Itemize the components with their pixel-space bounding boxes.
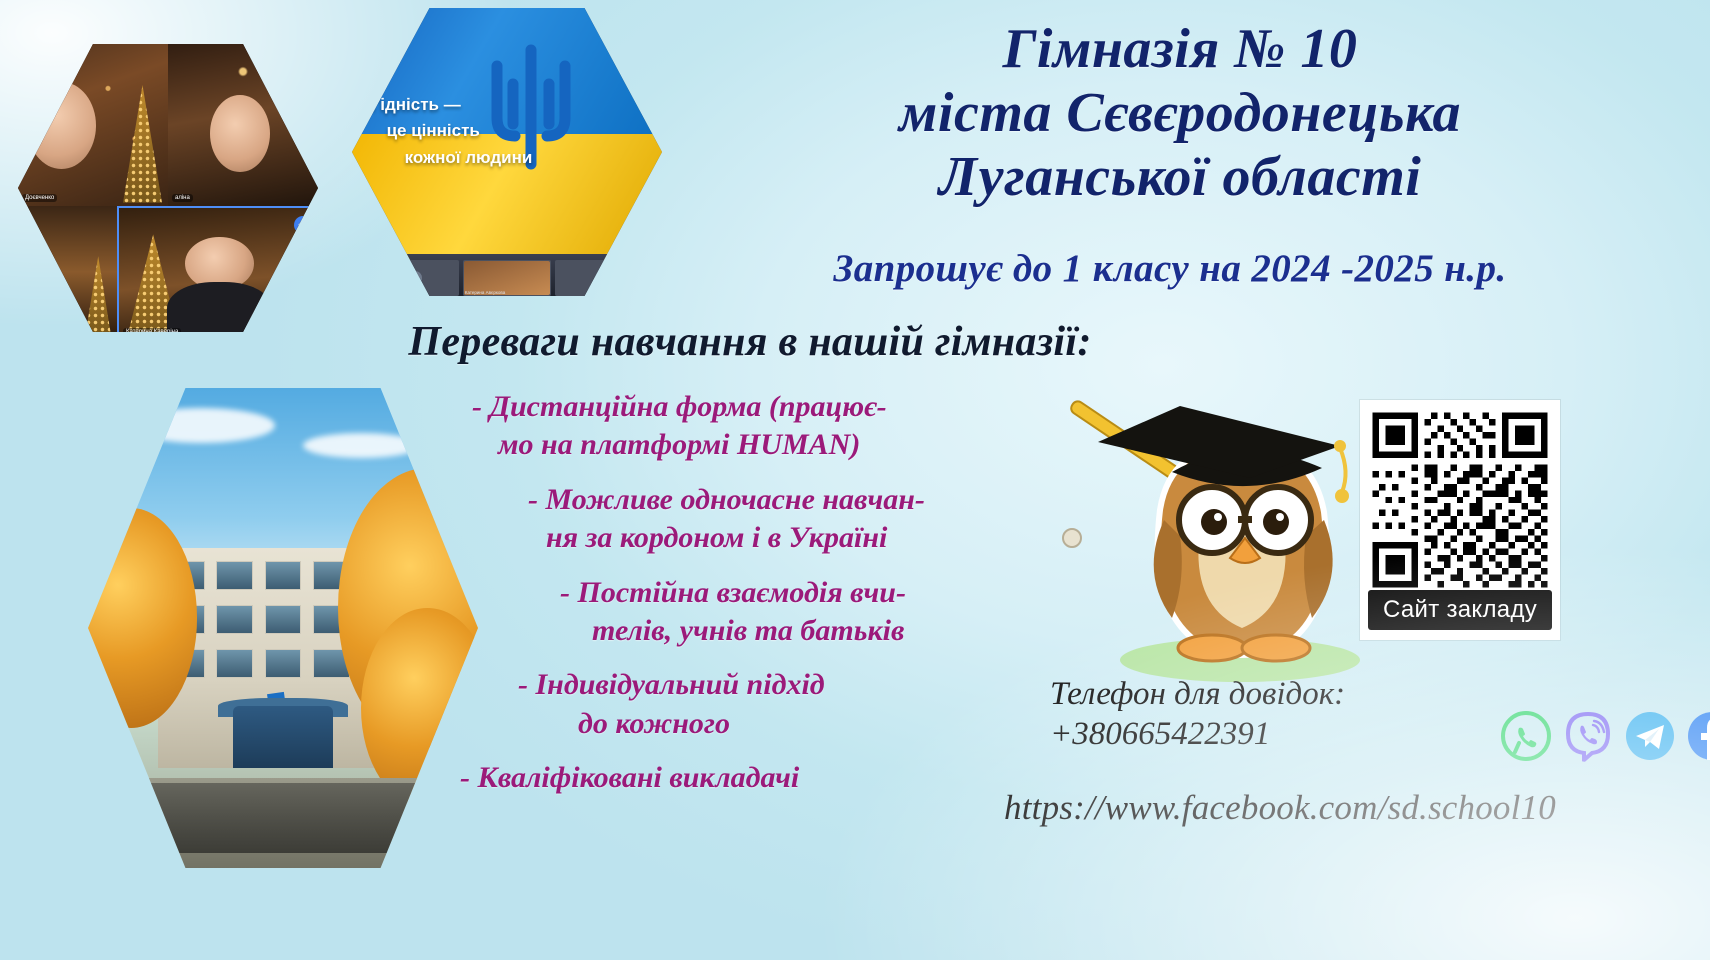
title-line-1: Гімназія № 10: [700, 18, 1660, 82]
poster-canvas: Доєвченко аліна ••• Катерина Каверіна: [0, 0, 1710, 960]
video-participant-name: Доєвченко: [22, 194, 57, 202]
benefits-list: - Дистанційна форма (працює- мо на платф…: [430, 388, 1030, 814]
video-participant-name: Катерина Каверіна: [123, 328, 181, 336]
viber-icon[interactable]: [1562, 710, 1614, 762]
video-tile-4-active: ••• Катерина Каверіна: [117, 206, 318, 338]
school-banner: [127, 783, 439, 853]
phone-number[interactable]: +380665422391: [1050, 716, 1480, 753]
benefit-item: - Можливе одночасне навчан- ня за кордон…: [430, 481, 1030, 558]
title-line-3: Луганської області: [700, 146, 1660, 210]
cloud: [127, 408, 275, 443]
benefit-item: - Дистанційна форма (працює- мо на платф…: [430, 388, 1030, 465]
flag-backdrop: Гідність — це цінність кожної людини В В…: [352, 2, 662, 302]
video-options-icon[interactable]: [264, 55, 310, 71]
video-participant-name: аліна: [172, 194, 193, 202]
subtitle-invitation: Запрошує до 1 класу на 2024 -2025 н.р.: [660, 246, 1680, 291]
benefit-line: ня за кордоном і в Україні: [528, 519, 1030, 557]
page-title: Гімназія № 10 міста Сєвєродонецька Луган…: [700, 18, 1660, 209]
qr-code-icon[interactable]: [1366, 406, 1554, 594]
qr-label-badge: Сайт закладу: [1368, 590, 1552, 630]
video-grid: Доєвченко аліна ••• Катерина Каверіна: [18, 38, 318, 338]
window: [216, 649, 253, 678]
window: [216, 605, 253, 634]
school-entrance: [233, 706, 333, 768]
benefit-line: - Індивідуальний підхід: [518, 666, 1030, 704]
participant-thumb-label: Валерія Курилішина: [373, 290, 415, 295]
benefit-line: - Дистанційна форма (працює-: [472, 388, 1030, 426]
title-line-2: міста Сєвєродонецька: [700, 82, 1660, 146]
school-scene: [88, 378, 478, 878]
facebook-icon[interactable]: [1686, 710, 1710, 762]
video-tile-3: [18, 206, 117, 338]
flag-caption: Гідність — це цінність кожної людини: [371, 92, 638, 171]
flag-caption-line-3: кожної людини: [371, 145, 638, 171]
benefit-item: - Постійна взаємодія вчи- телів, учнів т…: [430, 574, 1030, 651]
facebook-url[interactable]: https://www.facebook.com/sd.school10: [900, 788, 1660, 828]
owl-graduate-icon: [1040, 360, 1380, 690]
benefit-line: - Можливе одночасне навчан-: [528, 481, 1030, 519]
photo-school-building: [88, 378, 478, 878]
video-badge-icon[interactable]: •••: [294, 216, 312, 234]
photo-ukraine-flag: Гідність — це цінність кожної людини В В…: [352, 2, 662, 302]
benefit-item: - Індивідуальний підхід до кожного: [430, 666, 1030, 743]
participant-thumb-label: Катерина Авєркова: [465, 290, 505, 295]
participant-thumb: [555, 260, 643, 296]
window: [265, 649, 302, 678]
benefits-heading: Переваги навчання в нашій гімназії:: [300, 318, 1200, 366]
flag-caption-line-2: це цінність: [371, 118, 638, 144]
flag-participant-strip: В Валерія Курилішина Катерина Авєркова: [371, 260, 644, 296]
whatsapp-icon[interactable]: [1500, 710, 1552, 762]
participant-thumb: В Валерія Курилішина: [371, 260, 459, 296]
window: [216, 561, 253, 590]
video-tile-1: Доєвченко: [18, 38, 168, 206]
benefit-line: до кожного: [518, 705, 1030, 743]
cloud: [303, 433, 420, 458]
social-icons-row: [1500, 710, 1710, 762]
video-tile-2: аліна: [168, 38, 318, 206]
contact-label: Телефон для довідок:: [1050, 672, 1470, 717]
window: [265, 561, 302, 590]
benefit-line: - Постійна взаємодія вчи-: [560, 574, 1030, 612]
photo-video-conference: Доєвченко аліна ••• Катерина Каверіна: [18, 38, 318, 338]
participant-thumb: Катерина Авєркова: [463, 260, 551, 296]
telegram-icon[interactable]: [1624, 710, 1676, 762]
benefit-line: мо на платформі HUMAN): [472, 426, 1030, 464]
flag-caption-line-1: Гідність —: [371, 92, 638, 118]
window: [265, 605, 302, 634]
benefit-line: телів, учнів та батьків: [560, 612, 1030, 650]
